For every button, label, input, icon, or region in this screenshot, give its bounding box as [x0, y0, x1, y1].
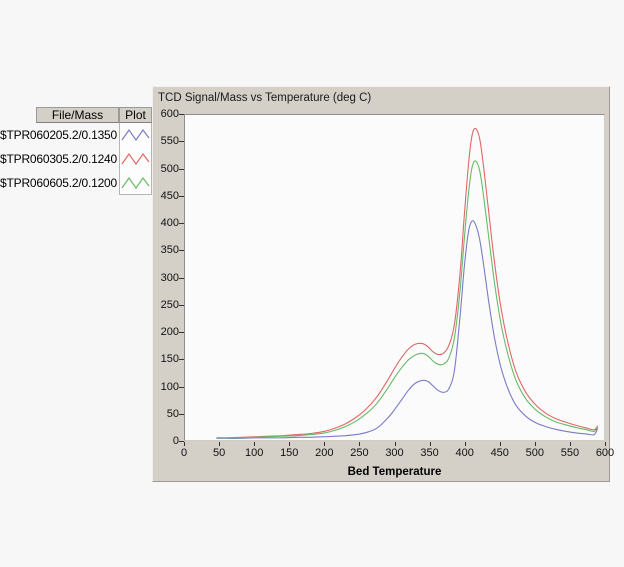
x-axis-tick-mark	[605, 442, 606, 446]
y-axis-tick-label: 500	[151, 164, 179, 174]
legend-row-label: $TPR060605.2/0.1200	[0, 171, 119, 195]
legend-row-swatch[interactable]	[119, 171, 152, 195]
legend-row-label: $TPR060205.2/0.1350	[0, 123, 119, 147]
legend-header-filemass[interactable]: File/Mass	[36, 107, 119, 123]
x-axis-tick-label: 350	[410, 447, 450, 459]
y-axis-tick-label: 300	[151, 273, 179, 283]
y-axis-tick-label: 250	[151, 300, 179, 310]
x-axis-tick-label: 550	[550, 447, 590, 459]
legend-row-swatch[interactable]	[119, 123, 152, 147]
plot-area	[184, 114, 605, 441]
chart-title: TCD Signal/Mass vs Temperature (deg C)	[158, 92, 371, 104]
zigzag-line-icon	[121, 174, 150, 192]
y-axis-tick-label: 100	[151, 382, 179, 392]
y-axis-tick-label: 350	[151, 245, 179, 255]
x-axis-tick-mark	[535, 442, 536, 446]
x-axis-tick-label: 250	[339, 447, 379, 459]
zigzag-line-icon	[121, 126, 150, 144]
y-axis-tick-label: 200	[151, 327, 179, 337]
x-axis-tick-label: 0	[164, 447, 204, 459]
y-axis-tick-label: 550	[151, 136, 179, 146]
x-axis-tick-mark	[465, 442, 466, 446]
x-axis-tick-label: 600	[585, 447, 624, 459]
x-axis-tick-mark	[430, 442, 431, 446]
x-axis-tick-label: 500	[515, 447, 555, 459]
y-axis-tick-label: 150	[151, 354, 179, 364]
chart-panel: TCD Signal/Mass vs Temperature (deg C) 0…	[152, 86, 610, 482]
x-axis-tick-mark	[289, 442, 290, 446]
legend-row[interactable]: $TPR060305.2/0.1240	[0, 147, 152, 171]
x-axis-tick-mark	[570, 442, 571, 446]
x-axis-label: Bed Temperature	[184, 466, 605, 478]
file-mass-legend-table: File/Mass Plot $TPR060205.2/0.1350 $TPR0…	[0, 107, 152, 195]
x-axis-tick-mark	[184, 442, 185, 446]
x-axis-tick-label: 100	[234, 447, 274, 459]
legend-row[interactable]: $TPR060205.2/0.1350	[0, 123, 152, 147]
y-axis-tick-label: 450	[151, 191, 179, 201]
y-axis-tick-label: 600	[151, 109, 179, 119]
x-axis-tick-mark	[254, 442, 255, 446]
x-axis-tick-mark	[324, 442, 325, 446]
x-axis-tick-mark	[219, 442, 220, 446]
x-axis-tick-label: 450	[480, 447, 520, 459]
legend-row[interactable]: $TPR060605.2/0.1200	[0, 171, 152, 195]
x-axis-tick-label: 150	[269, 447, 309, 459]
x-axis-tick-mark	[359, 442, 360, 446]
x-axis-tick-mark	[395, 442, 396, 446]
legend-row-swatch[interactable]	[119, 147, 152, 171]
y-axis-tick-label: 50	[151, 409, 179, 419]
x-axis-tick-label: 200	[304, 447, 344, 459]
legend-header-row: File/Mass Plot	[0, 107, 152, 123]
x-axis-tick-mark	[500, 442, 501, 446]
x-axis-tick-label: 400	[445, 447, 485, 459]
x-axis-tick-label: 300	[375, 447, 415, 459]
legend-row-label: $TPR060305.2/0.1240	[0, 147, 119, 171]
y-axis-tick-label: 400	[151, 218, 179, 228]
zigzag-line-icon	[121, 150, 150, 168]
chart-line-series	[216, 221, 597, 439]
y-axis-tick-label: 0	[151, 436, 179, 446]
legend-header-plot[interactable]: Plot	[119, 107, 152, 123]
chart-series-svg	[185, 115, 604, 440]
x-axis-tick-label: 50	[199, 447, 239, 459]
chart-line-series	[216, 161, 597, 438]
